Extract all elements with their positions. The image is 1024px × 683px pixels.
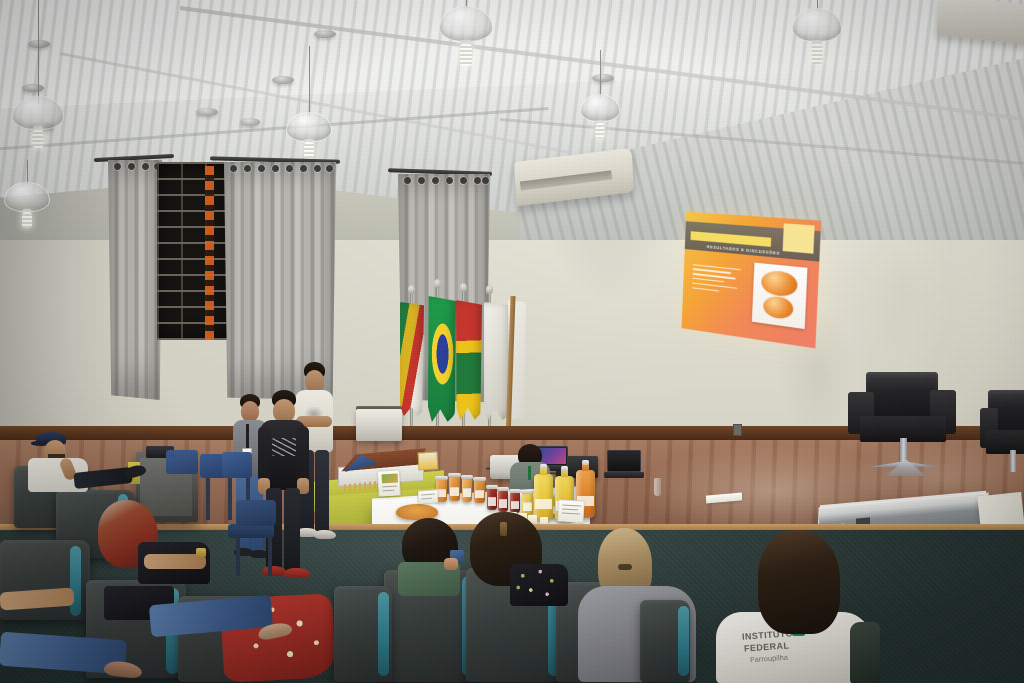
armchair-stage-1[interactable] (846, 372, 962, 482)
shirt-script-graphic (272, 438, 298, 456)
ceiling-disc-fixture (240, 118, 260, 126)
ceiling-disc-fixture (314, 30, 336, 38)
lanyard (528, 466, 531, 480)
poster-small-orange (418, 451, 439, 470)
jam-jar-dark-red-2 (498, 490, 508, 512)
slide-bullet-lines (692, 264, 747, 298)
pendant-light-7 (580, 50, 620, 148)
jam-jar-dark-red-1 (487, 488, 497, 510)
arm (258, 426, 271, 482)
chair-leg (228, 478, 232, 520)
sandal (103, 660, 142, 679)
audience-man-with-cap (28, 432, 148, 502)
chair-back-blue (236, 500, 276, 526)
flag-rio-grande-do-sul (456, 300, 482, 420)
hair-tie (618, 564, 632, 570)
stacked-chair (166, 450, 198, 474)
projected-slide: RESULTADOS E DISCUSSÕES (681, 212, 821, 349)
hair-clip (500, 522, 507, 536)
person-standing-black-shirt (258, 390, 310, 590)
shoe (123, 463, 147, 480)
curtain-left[interactable] (108, 160, 162, 400)
hand (444, 558, 458, 570)
slide-photo-fruit-pulp (751, 263, 807, 329)
laptop-second[interactable] (604, 450, 644, 482)
info-card-2 (418, 489, 438, 503)
shoe-red-sneaker (262, 566, 286, 576)
jam-jar-dark-red-3 (510, 492, 520, 513)
audience-woman-floral-black (466, 512, 570, 608)
jam-jar-orange-4 (474, 480, 485, 503)
armchair-stage-2[interactable] (980, 390, 1024, 476)
slide-corner-box (782, 223, 815, 253)
pendant-light-1 (14, 0, 62, 150)
jam-jar-orange-2 (449, 476, 460, 501)
window-mullions (157, 162, 229, 340)
auditorium-seat[interactable] (334, 586, 398, 683)
arm (296, 426, 309, 482)
printer-multifunction[interactable] (356, 409, 402, 441)
flag-brazil (428, 296, 456, 422)
leg (315, 450, 329, 534)
hair-long-dark (758, 530, 840, 634)
water-bottle[interactable] (654, 478, 661, 496)
stacked-chair (222, 452, 252, 478)
shoe-red-sneaker (284, 568, 310, 578)
pendant-light-3 (286, 46, 332, 162)
pendant-light-2 (4, 160, 50, 244)
head (305, 370, 324, 392)
wristband (196, 548, 206, 557)
photo-scene: RESULTADOS E DISCUSSÕES (0, 0, 1024, 683)
torso-floral-black (510, 564, 568, 606)
shoe (314, 530, 336, 539)
lanyard (246, 424, 249, 450)
pendant-light-6 (440, 0, 492, 80)
ceiling-disc-fixture (196, 108, 218, 116)
head (241, 401, 259, 422)
info-card-1 (377, 469, 400, 496)
wall-outlet-box (733, 424, 742, 436)
auditorium-seat[interactable] (640, 600, 698, 683)
chair-leg (268, 536, 272, 576)
chair-leg (236, 536, 240, 576)
pendant-light-8 (792, 0, 842, 82)
flag-municipal (400, 302, 424, 416)
arm (0, 587, 75, 610)
audience-woman-red-hair (92, 500, 222, 596)
audience-woman-institute-shirt: INSTITUTO FEDERAL Farroupilha (716, 530, 876, 683)
window-orange-accent (205, 166, 214, 340)
leg (284, 488, 300, 572)
jam-jar-orange-3 (462, 478, 472, 502)
torso-dark-sleeve (850, 622, 880, 683)
audience-person-floral-skirt (0, 586, 340, 683)
